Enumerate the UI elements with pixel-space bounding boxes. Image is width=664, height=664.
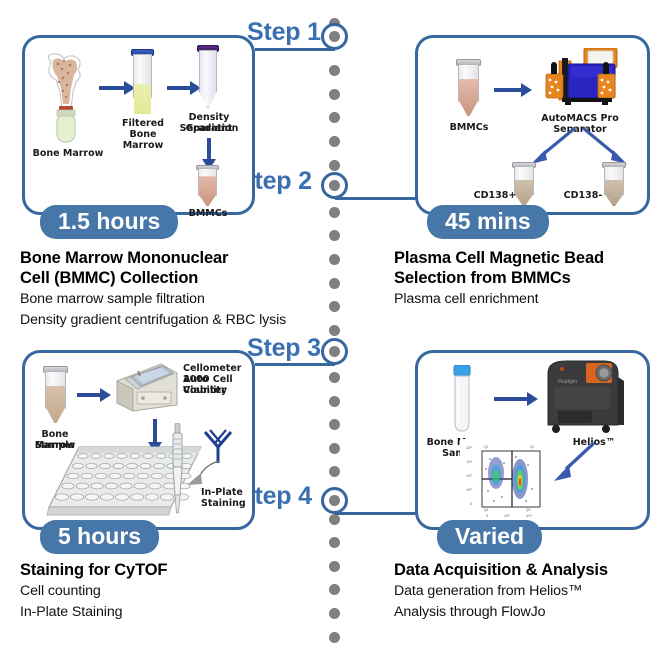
cellometer-icon bbox=[111, 359, 181, 417]
timeline-dot bbox=[329, 254, 340, 265]
step-2-caption: Plasma Cell Magnetic Bead Selection from… bbox=[394, 248, 664, 309]
bmmcs-input-caption: BMMCs bbox=[439, 122, 499, 133]
timeline-dot bbox=[329, 112, 340, 123]
bone-marrow-caption: Bone Marrow bbox=[31, 148, 105, 159]
tube-fill bbox=[199, 176, 216, 206]
tube-fill bbox=[459, 79, 478, 116]
density-gradient-tube bbox=[199, 50, 217, 108]
connector-step-2 bbox=[335, 197, 417, 200]
svg-text:Q3: Q3 bbox=[526, 508, 530, 512]
timeline-dot bbox=[329, 89, 340, 100]
step-3-title-line1: Staining for CyTOF bbox=[20, 560, 320, 580]
timeline-node-dot bbox=[329, 31, 340, 42]
timeline-dot bbox=[329, 419, 340, 430]
in-plate-staining-caption-line1: In-Plate bbox=[201, 487, 255, 498]
timeline-dot bbox=[329, 608, 340, 619]
flow-cytometry-plot: 10⁵10⁴ 10³10²0 010²10⁴ Q1Q2 Q4Q3 bbox=[460, 439, 552, 525]
bone-marrow-sample-tube bbox=[451, 365, 473, 433]
step-1-duration-badge: 1.5 hours bbox=[40, 205, 178, 239]
step-2-card[interactable]: BMMCs AutoMACS Pro Separator bbox=[415, 35, 650, 215]
step-4-card[interactable]: Bone Marrow Sample Fluidigm Helios™ bbox=[415, 350, 650, 530]
workflow-timeline bbox=[325, 18, 345, 648]
step-1-caption: Bone Marrow Mononuclear Cell (BMMC) Coll… bbox=[20, 248, 320, 329]
step-2-duration-badge: 45 mins bbox=[427, 205, 549, 239]
timeline-node-step-1[interactable] bbox=[321, 23, 348, 50]
arrow-to-separator bbox=[494, 88, 522, 92]
cellometer-caption-line3: Counter bbox=[183, 385, 259, 396]
tube-body bbox=[199, 50, 217, 92]
tube-tip bbox=[199, 91, 217, 108]
timeline-dot bbox=[329, 301, 340, 312]
arrow-to-bmmcs bbox=[207, 138, 211, 160]
step-1-title-line1: Bone Marrow Mononuclear bbox=[20, 248, 320, 268]
step-4-duration-badge: Varied bbox=[437, 520, 542, 554]
svg-text:10²: 10² bbox=[504, 513, 510, 518]
timeline-node-dot bbox=[329, 346, 340, 357]
step-4-sub-line1: Data generation from Helios™ bbox=[394, 582, 664, 600]
timeline-node-step-2[interactable] bbox=[321, 172, 348, 199]
svg-text:Q4: Q4 bbox=[484, 508, 488, 512]
step-4-caption: Data Acquisition & Analysis Data generat… bbox=[394, 560, 664, 621]
bone-marrow-sample-tube bbox=[45, 371, 66, 423]
svg-text:Q1: Q1 bbox=[484, 445, 488, 449]
step-4-title-line1: Data Acquisition & Analysis bbox=[394, 560, 664, 580]
cd138-negative-tube bbox=[604, 166, 624, 206]
step-label-1: Step 1 bbox=[247, 18, 321, 47]
bmmcs-tube bbox=[198, 168, 217, 206]
step-3-duration-badge: 5 hours bbox=[40, 520, 159, 554]
timeline-dot bbox=[329, 443, 340, 454]
timeline-dot bbox=[329, 207, 340, 218]
cd138-positive-caption: CD138+ bbox=[472, 190, 518, 201]
timeline-dot bbox=[329, 325, 340, 336]
arrow-to-gradient bbox=[167, 86, 191, 90]
bmmcs-caption: BMMCs bbox=[177, 208, 239, 219]
arrow-to-flow-plot bbox=[548, 439, 602, 487]
automacs-pro-separator-icon bbox=[532, 48, 628, 110]
step-label-3: Step 3 bbox=[247, 334, 321, 363]
svg-text:10³: 10³ bbox=[466, 473, 472, 478]
svg-text:10²: 10² bbox=[466, 487, 472, 492]
timeline-dot bbox=[329, 632, 340, 643]
step-4-sub-line2: Analysis through FlowJo bbox=[394, 603, 664, 621]
arrow-to-cellometer bbox=[77, 393, 101, 397]
timeline-dot bbox=[329, 136, 340, 147]
timeline-node-dot bbox=[329, 495, 340, 506]
timeline-dot bbox=[329, 537, 340, 548]
arrow-to-helios bbox=[494, 397, 528, 401]
timeline-dot bbox=[329, 160, 340, 171]
tube-fill bbox=[605, 180, 623, 206]
svg-text:10⁴: 10⁴ bbox=[466, 459, 472, 464]
timeline-dot bbox=[329, 396, 340, 407]
step-1-sub-line1: Bone marrow sample filtration bbox=[20, 290, 320, 308]
timeline-dot bbox=[329, 65, 340, 76]
bmmcs-input-tube bbox=[458, 64, 479, 116]
step-2-sub-line1: Plasma cell enrichment bbox=[394, 290, 664, 308]
step-3-sub-line2: In-Plate Staining bbox=[20, 603, 320, 621]
step-1-card[interactable]: Bone Marrow Filtered Bone Marrow Density… bbox=[22, 35, 255, 215]
timeline-dot bbox=[329, 584, 340, 595]
step-2-title-line2: Selection from BMMCs bbox=[394, 268, 664, 288]
svg-text:10⁴: 10⁴ bbox=[526, 513, 532, 518]
filtered-caption-line2: Bone Marrow bbox=[113, 129, 173, 151]
tube-fill bbox=[134, 84, 151, 114]
arrow-to-plate bbox=[153, 419, 157, 443]
helios-instrument-icon: Fluidigm bbox=[544, 357, 628, 435]
step-3-card[interactable]: Bone Marrow Sample Cellometer Auto 2000 … bbox=[22, 350, 255, 530]
timeline-dot bbox=[329, 372, 340, 383]
timeline-dot bbox=[329, 514, 340, 525]
step-1-sub-line2: Density gradient centrifugation & RBC ly… bbox=[20, 311, 320, 329]
timeline-node-dot bbox=[329, 180, 340, 191]
gradient-caption-line2: Separation bbox=[166, 123, 252, 134]
tube-fill bbox=[46, 386, 65, 423]
step-1-title-line2: Cell (BMMC) Collection bbox=[20, 268, 320, 288]
svg-text:Q2: Q2 bbox=[530, 445, 534, 449]
in-plate-staining-caption-line2: Staining bbox=[201, 498, 255, 509]
filtered-caption-line1: Filtered bbox=[113, 118, 173, 129]
timeline-dot bbox=[329, 561, 340, 572]
connector-step-3 bbox=[255, 363, 335, 366]
step-3-caption: Staining for CyTOF Cell counting In-Plat… bbox=[20, 560, 320, 621]
timeline-node-step-3[interactable] bbox=[321, 338, 348, 365]
step-3-sub-line1: Cell counting bbox=[20, 582, 320, 600]
arrow-to-filtered bbox=[99, 86, 125, 90]
timeline-dot bbox=[329, 466, 340, 477]
connector-step-4 bbox=[335, 512, 417, 515]
svg-text:10⁵: 10⁵ bbox=[466, 445, 472, 450]
timeline-dot bbox=[329, 230, 340, 241]
step-2-title-line1: Plasma Cell Magnetic Bead bbox=[394, 248, 664, 268]
svg-text:Fluidigm: Fluidigm bbox=[558, 379, 577, 385]
timeline-node-step-4[interactable] bbox=[321, 487, 348, 514]
timeline-dot bbox=[329, 278, 340, 289]
filtered-bone-marrow-tube bbox=[133, 54, 152, 114]
cd138-negative-caption: CD138- bbox=[560, 190, 606, 201]
connector-step-1 bbox=[255, 48, 335, 51]
bone-marrow-icon bbox=[41, 52, 93, 146]
